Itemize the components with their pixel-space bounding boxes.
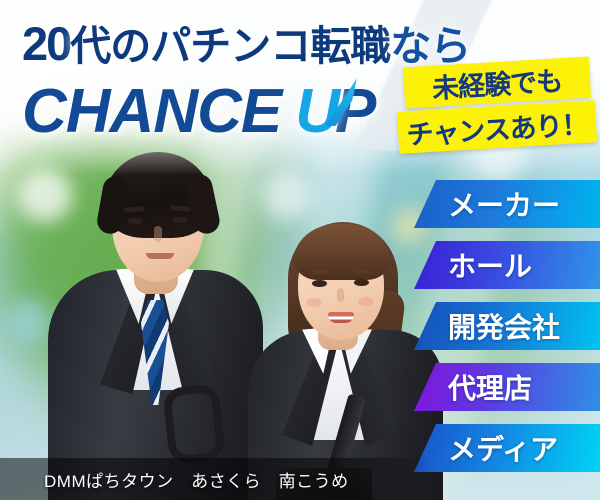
caption-bar: DMMぱちタウン あさくら 南こうめ bbox=[0, 458, 600, 500]
man-photo bbox=[48, 150, 263, 500]
headline-main: 代のパチンコ転職 bbox=[70, 23, 390, 69]
man-mouth bbox=[146, 253, 174, 259]
advertisement-banner[interactable]: 20代のパチンコ転職なら CHANCEUP 未経験でも チャンスあり！ メーカー… bbox=[0, 0, 600, 500]
category-label: メーカー bbox=[448, 184, 560, 224]
chance-up-logo: CHANCEUP bbox=[22, 76, 422, 148]
logo-u-text: U bbox=[295, 76, 339, 148]
caption-text: DMMぱちタウン あさくら 南こうめ bbox=[0, 467, 349, 492]
category-button-hall[interactable]: ホール bbox=[414, 241, 600, 289]
woman-bangs bbox=[294, 224, 390, 280]
woman-eye-left bbox=[312, 280, 327, 287]
woman-blush-right bbox=[358, 297, 374, 306]
briefcase-hand-strap bbox=[162, 383, 226, 464]
category-label: 代理店 bbox=[448, 367, 532, 407]
woman-smile bbox=[328, 312, 354, 323]
category-button-development-company[interactable]: 開発会社 bbox=[414, 302, 600, 350]
category-label: 開発会社 bbox=[448, 306, 560, 346]
bokeh-light bbox=[6, 300, 50, 344]
category-list: メーカー ホール 開発会社 代理店 メディア bbox=[414, 180, 600, 485]
category-button-maker[interactable]: メーカー bbox=[414, 180, 600, 228]
man-nose bbox=[154, 226, 162, 242]
logo-chance-text: CHANCE bbox=[22, 76, 281, 148]
woman-blush-left bbox=[306, 298, 322, 307]
bokeh-light bbox=[262, 170, 312, 220]
page-title: 20代のパチンコ転職なら bbox=[22, 20, 462, 67]
category-button-agency[interactable]: 代理店 bbox=[414, 363, 600, 411]
man-eye-left bbox=[127, 218, 143, 224]
woman-nose bbox=[337, 288, 344, 302]
woman-eye-right bbox=[354, 279, 369, 286]
badge-line-2: チャンスあり！ bbox=[397, 100, 597, 154]
man-eye-right bbox=[172, 217, 188, 223]
badge-line-1: 未経験でも bbox=[403, 57, 591, 109]
category-label: ホール bbox=[448, 245, 532, 285]
status-badge: 未経験でも チャンスあり！ bbox=[398, 58, 598, 158]
headline-number: 20 bbox=[22, 17, 70, 70]
